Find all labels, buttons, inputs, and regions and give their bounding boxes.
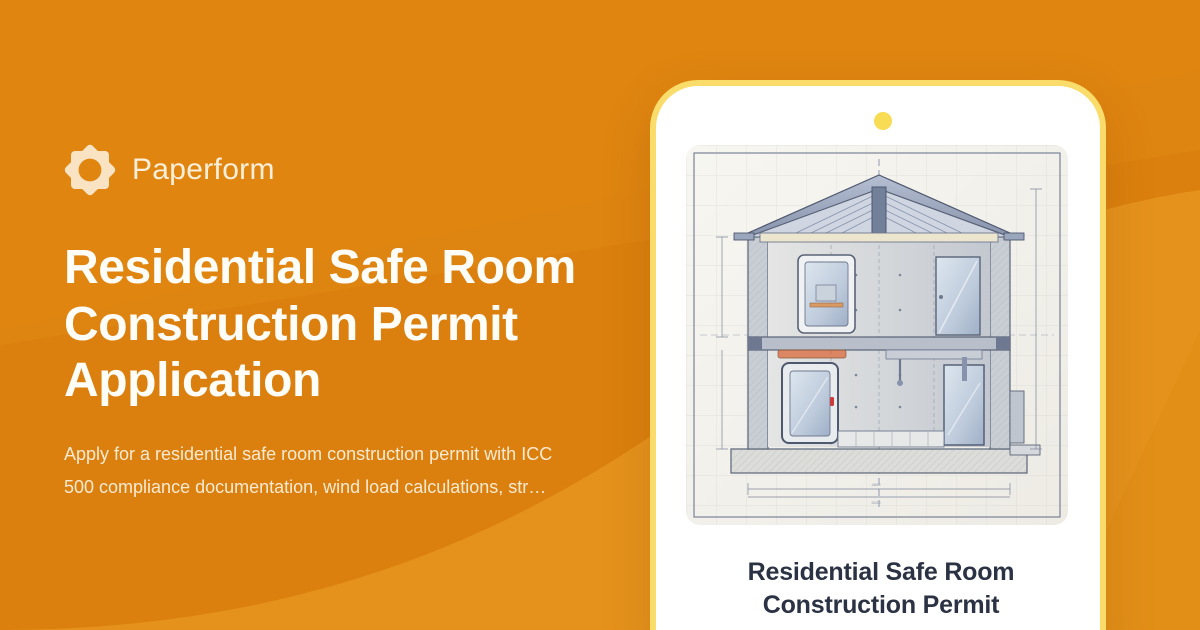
svg-text:5200: 5200 [872,500,882,505]
brand-lockup: Paperform [64,140,624,200]
svg-text:4800: 4800 [872,482,882,487]
paperform-star-logo-icon [64,144,116,196]
brand-name: Paperform [132,155,275,185]
camera-dot-icon [874,112,892,130]
form-preview-image: 4800 5200 [686,145,1068,525]
form-card-title: Residential Safe Room Construction Permi… [680,556,1082,622]
share-card: Paperform Residential Safe Room Construc… [0,0,1200,630]
page-title: Residential Safe Room Construction Permi… [64,240,624,410]
phone-mockup: 4800 5200 Residential Safe Room Construc… [650,80,1106,630]
page-description: Apply for a residential safe room constr… [64,438,564,505]
hero-content: Paperform Residential Safe Room Construc… [64,140,624,504]
